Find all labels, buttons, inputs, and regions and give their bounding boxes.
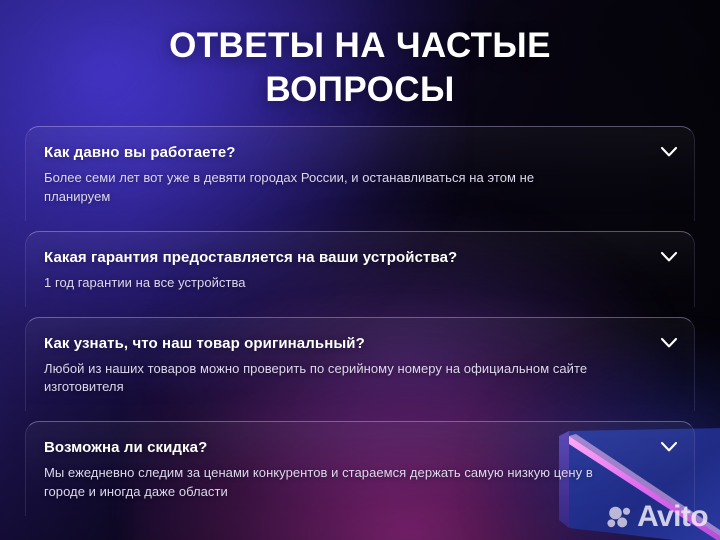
faq-question: Как узнать, что наш товар оригинальный? (44, 335, 634, 353)
avito-wordmark: Avito (637, 502, 708, 532)
page-title: ОТВЕТЫ НА ЧАСТЫЕ ВОПРОСЫ (0, 24, 720, 112)
avito-dots-logo-icon (607, 506, 633, 528)
chevron-down-icon[interactable] (660, 251, 678, 263)
faq-item[interactable]: Возможна ли скидка? Мы ежедневно следим … (25, 421, 695, 516)
faq-question: Возможна ли скидка? (44, 439, 634, 457)
faq-question: Как давно вы работаете? (44, 144, 634, 162)
chevron-down-icon[interactable] (660, 146, 678, 158)
faq-answer: Любой из наших товаров можно проверить п… (44, 360, 604, 398)
faq-question: Какая гарантия предоставляется на ваши у… (44, 249, 634, 267)
faq-answer: 1 год гарантии на все устройства (44, 274, 604, 293)
chevron-down-icon[interactable] (660, 441, 678, 453)
faq-answer: Более семи лет вот уже в девяти городах … (44, 169, 604, 207)
faq-item[interactable]: Какая гарантия предоставляется на ваши у… (25, 231, 695, 307)
faq-answer: Мы ежедневно следим за ценами конкуренто… (44, 464, 604, 502)
faq-list: Как давно вы работаете? Более семи лет в… (25, 126, 695, 516)
avito-watermark: Avito (607, 502, 708, 532)
faq-item[interactable]: Как давно вы работаете? Более семи лет в… (25, 126, 695, 221)
chevron-down-icon[interactable] (660, 337, 678, 349)
faq-item[interactable]: Как узнать, что наш товар оригинальный? … (25, 317, 695, 412)
page-title-line-1: ОТВЕТЫ НА ЧАСТЫЕ (0, 24, 720, 68)
page-title-line-2: ВОПРОСЫ (0, 68, 720, 112)
